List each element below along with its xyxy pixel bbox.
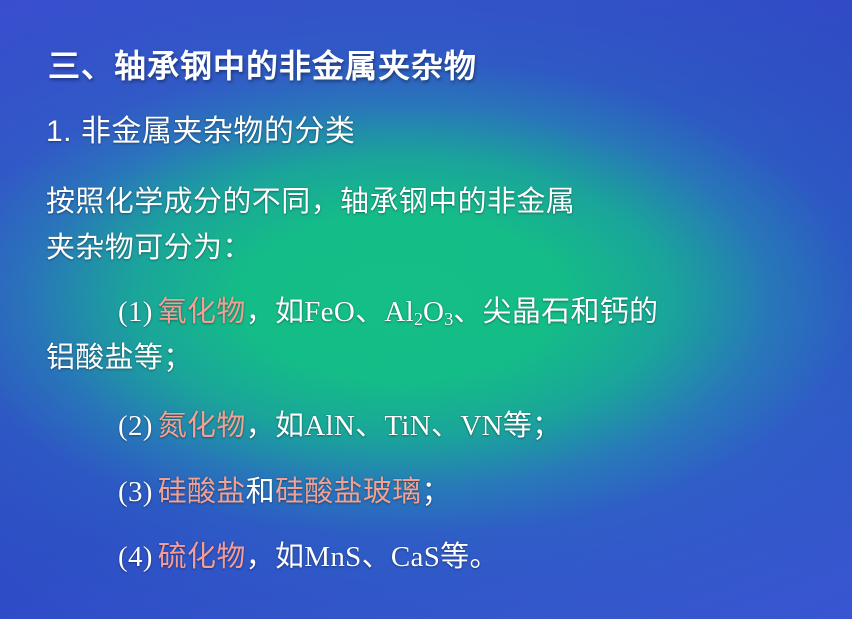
slide-heading: 三、轴承钢中的非金属夹杂物	[48, 41, 477, 87]
prefix-4: 如	[275, 541, 304, 573]
highlight-term-oxides: 氧化物	[158, 296, 246, 328]
list-marker-3: (3)	[118, 476, 158, 508]
formula-al2o3-al: Al	[384, 296, 414, 328]
formula-mns: MnS	[304, 541, 361, 573]
highlight-term-silicate-glass: 硅酸盐玻璃	[275, 476, 422, 508]
list-item-1: (1)氧化物，如FeO、Al2O3、尖晶石和钙的	[118, 288, 658, 330]
suffix-3: ；	[421, 476, 450, 508]
conjunction-3: 和	[246, 476, 275, 508]
paragraph-line-1: 按照化学成分的不同，轴承钢中的非金属	[46, 178, 575, 220]
separator-1a: 、	[355, 296, 384, 328]
comma-2: ，	[246, 410, 275, 442]
formula-al2o3-sub-3: 3	[444, 309, 453, 329]
separator-4a: 、	[362, 541, 391, 573]
formula-aln: AlN	[304, 410, 355, 442]
separator-2a: 、	[355, 410, 384, 442]
suffix-1: 尖晶石和钙的	[483, 296, 659, 328]
formula-al2o3: Al2O3	[384, 296, 453, 328]
suffix-2: 等；	[503, 410, 562, 442]
formula-vn: VN	[460, 410, 503, 442]
list-item-3: (3)硅酸盐和硅酸盐玻璃；	[118, 468, 451, 510]
list-item-4: (4)硫化物，如MnS、CaS等。	[118, 533, 499, 575]
formula-feo: FeO	[304, 296, 355, 328]
formula-al2o3-sub-2: 2	[414, 309, 423, 329]
paragraph-line-2: 夹杂物可分为：	[46, 224, 252, 266]
highlight-term-sulfides: 硫化物	[158, 541, 246, 573]
highlight-term-nitrides: 氮化物	[158, 410, 246, 442]
prefix-2: 如	[275, 410, 304, 442]
list-marker-4: (4)	[118, 541, 158, 573]
separator-1b: 、	[453, 296, 482, 328]
prefix-1: 如	[275, 296, 304, 328]
suffix-4: 等。	[440, 541, 499, 573]
comma-4: ，	[246, 541, 275, 573]
list-marker-2: (2)	[118, 410, 158, 442]
highlight-term-silicate: 硅酸盐	[158, 476, 246, 508]
separator-2b: 、	[431, 410, 460, 442]
slide-canvas: 三、轴承钢中的非金属夹杂物 1. 非金属夹杂物的分类 按照化学成分的不同，轴承钢…	[0, 0, 852, 619]
formula-al2o3-o: O	[423, 296, 444, 328]
list-item-2: (2)氮化物，如AlN、TiN、VN等；	[118, 402, 561, 444]
slide-subheading: 1. 非金属夹杂物的分类	[46, 106, 355, 150]
comma-1: ，	[246, 296, 275, 328]
formula-tin: TiN	[384, 410, 431, 442]
formula-cas: CaS	[391, 541, 440, 573]
list-item-1-wrap-line: 铝酸盐等；	[46, 334, 193, 376]
list-marker-1: (1)	[118, 296, 158, 328]
